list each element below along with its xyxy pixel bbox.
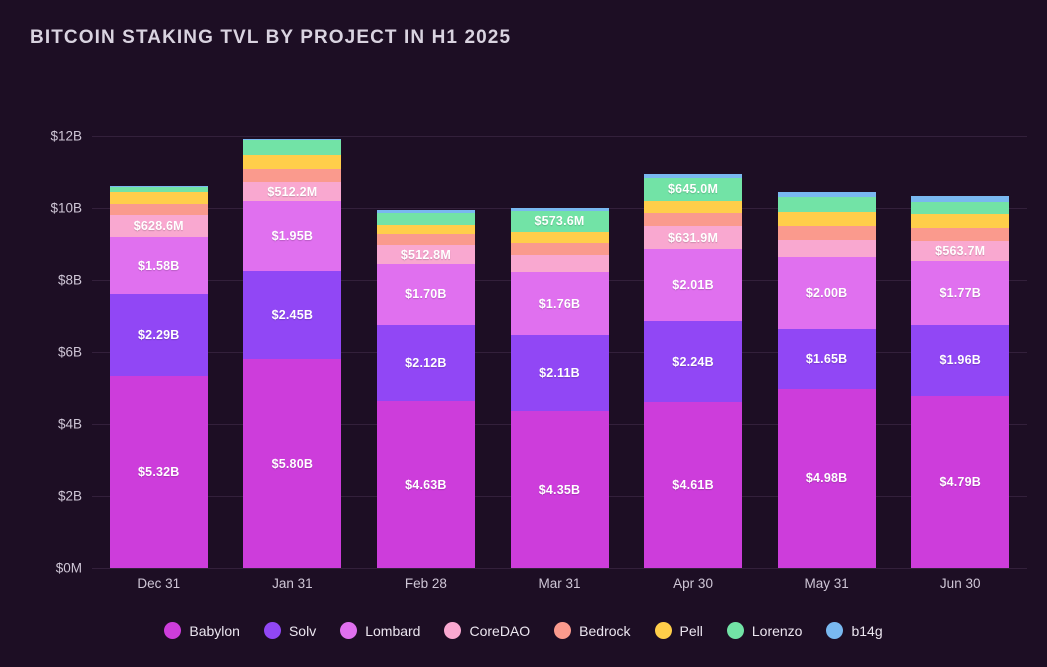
- bar-segment-value-label: $4.79B: [939, 475, 981, 489]
- bar-segment-solv[interactable]: $2.24B: [644, 321, 742, 402]
- bar-segment-pell[interactable]: [778, 212, 876, 226]
- bar-segment-babylon[interactable]: $4.61B: [644, 402, 742, 568]
- x-axis-tick-label: Apr 30: [673, 576, 713, 591]
- bar-stack[interactable]: $5.32B$2.29B$1.58B$628.6M: [110, 186, 208, 568]
- legend-swatch-icon: [444, 622, 461, 639]
- bar-segment-b14g[interactable]: [778, 192, 876, 198]
- bar-segment-bedrock[interactable]: [511, 243, 609, 255]
- bar-segment-value-label: $2.00B: [806, 286, 848, 300]
- bar-segment-bedrock[interactable]: [377, 234, 475, 245]
- x-axis-tick-label: Jan 31: [272, 576, 313, 591]
- bar-segment-lorenzo[interactable]: $573.6M: [511, 211, 609, 232]
- gridline: [92, 136, 1027, 137]
- bar-segment-lorenzo[interactable]: [778, 197, 876, 212]
- x-axis-tick-label: Feb 28: [405, 576, 447, 591]
- bar-segment-value-label: $1.77B: [939, 286, 981, 300]
- legend-swatch-icon: [554, 622, 571, 639]
- legend-item-lombard[interactable]: Lombard: [340, 622, 420, 639]
- chart-container: BITCOIN STAKING TVL BY PROJECT IN H1 202…: [0, 0, 1047, 667]
- bar-segment-value-label: $4.63B: [405, 478, 447, 492]
- bar-segment-lombard[interactable]: $1.58B: [110, 237, 208, 294]
- bar-segment-coredao[interactable]: $512.8M: [377, 245, 475, 263]
- bar-segment-lombard[interactable]: $1.70B: [377, 264, 475, 325]
- bar-segment-babylon[interactable]: $4.63B: [377, 401, 475, 568]
- x-axis-tick-label: May 31: [805, 576, 849, 591]
- legend-label: Babylon: [189, 623, 240, 639]
- bar-segment-babylon[interactable]: $4.98B: [778, 389, 876, 568]
- legend-item-b14g[interactable]: b14g: [826, 622, 882, 639]
- legend-item-solv[interactable]: Solv: [264, 622, 316, 639]
- bar-segment-value-label: $628.6M: [134, 219, 184, 233]
- bar-segment-lorenzo[interactable]: [243, 140, 341, 155]
- legend-label: Solv: [289, 623, 316, 639]
- bar-segment-solv[interactable]: $2.29B: [110, 294, 208, 376]
- bar-segment-value-label: $1.58B: [138, 259, 180, 273]
- bar-segment-lombard[interactable]: $1.76B: [511, 272, 609, 335]
- bar-segment-lorenzo[interactable]: [110, 187, 208, 192]
- bar-segment-value-label: $5.80B: [272, 457, 314, 471]
- bar-stack[interactable]: $4.79B$1.96B$1.77B$563.7M: [911, 196, 1009, 568]
- bar-segment-bedrock[interactable]: [778, 226, 876, 240]
- bar-segment-pell[interactable]: [511, 232, 609, 244]
- legend-label: Pell: [680, 623, 703, 639]
- bar-segment-b14g[interactable]: [511, 208, 609, 211]
- bar-segment-pell[interactable]: [110, 192, 208, 204]
- bar-stack[interactable]: $5.80B$2.45B$1.95B$512.2M: [243, 139, 341, 568]
- x-axis-tick-label: Jun 30: [940, 576, 981, 591]
- legend-swatch-icon: [826, 622, 843, 639]
- y-axis-tick-label: $8B: [58, 273, 82, 288]
- bar-segment-coredao[interactable]: $563.7M: [911, 241, 1009, 261]
- bar-segment-value-label: $2.45B: [272, 308, 314, 322]
- bar-stack[interactable]: $4.63B$2.12B$1.70B$512.8M: [377, 210, 475, 568]
- chart-legend: BabylonSolvLombardCoreDAOBedrockPellLore…: [0, 622, 1047, 639]
- bar-segment-b14g[interactable]: [911, 196, 1009, 202]
- legend-item-pell[interactable]: Pell: [655, 622, 703, 639]
- bar-segment-value-label: $1.76B: [539, 297, 581, 311]
- bar-segment-value-label: $645.0M: [668, 182, 718, 196]
- bar-segment-b14g[interactable]: [110, 186, 208, 187]
- y-axis-tick-label: $0M: [56, 561, 82, 576]
- bar-segment-lombard[interactable]: $2.01B: [644, 249, 742, 321]
- bar-segment-pell[interactable]: [243, 155, 341, 169]
- chart-title: BITCOIN STAKING TVL BY PROJECT IN H1 202…: [30, 27, 511, 49]
- bar-stack[interactable]: $4.61B$2.24B$2.01B$631.9M$645.0M: [644, 174, 742, 568]
- bar-segment-solv[interactable]: $2.45B: [243, 271, 341, 359]
- legend-label: Bedrock: [579, 623, 630, 639]
- legend-label: Lombard: [365, 623, 420, 639]
- bar-segment-babylon[interactable]: $5.32B: [110, 376, 208, 568]
- y-axis-tick-label: $6B: [58, 345, 82, 360]
- bar-segment-solv[interactable]: $2.12B: [377, 325, 475, 401]
- x-axis: Dec 31Jan 31Feb 28Mar 31Apr 30May 31Jun …: [92, 576, 1027, 602]
- bar-segment-value-label: $1.70B: [405, 287, 447, 301]
- bar-segment-value-label: $4.61B: [672, 478, 714, 492]
- legend-item-bedrock[interactable]: Bedrock: [554, 622, 630, 639]
- bar-segment-value-label: $5.32B: [138, 465, 180, 479]
- legend-item-babylon[interactable]: Babylon: [164, 622, 240, 639]
- bar-segment-solv[interactable]: $1.65B: [778, 329, 876, 388]
- bar-segment-value-label: $2.01B: [672, 278, 714, 292]
- bar-segment-coredao[interactable]: [778, 240, 876, 257]
- bar-segment-value-label: $1.95B: [272, 229, 314, 243]
- legend-label: Lorenzo: [752, 623, 803, 639]
- bar-segment-lorenzo[interactable]: [911, 202, 1009, 214]
- bar-segment-value-label: $512.8M: [401, 248, 451, 262]
- bar-segment-pell[interactable]: [644, 201, 742, 213]
- bar-segment-pell[interactable]: [377, 225, 475, 234]
- bar-segment-value-label: $4.98B: [806, 471, 848, 485]
- bar-stack[interactable]: $4.98B$1.65B$2.00B: [778, 192, 876, 568]
- legend-label: b14g: [851, 623, 882, 639]
- bar-segment-b14g[interactable]: [644, 174, 742, 177]
- bar-segment-solv[interactable]: $2.11B: [511, 335, 609, 411]
- bar-segment-b14g[interactable]: [377, 210, 475, 213]
- bar-segment-coredao[interactable]: $512.2M: [243, 182, 341, 200]
- bar-segment-babylon[interactable]: $5.80B: [243, 359, 341, 568]
- legend-item-coredao[interactable]: CoreDAO: [444, 622, 530, 639]
- bar-segment-lombard[interactable]: $1.95B: [243, 201, 341, 271]
- bar-segment-bedrock[interactable]: [644, 213, 742, 226]
- bar-segment-value-label: $573.6M: [534, 214, 584, 228]
- legend-swatch-icon: [164, 622, 181, 639]
- bar-segment-value-label: $563.7M: [935, 244, 985, 258]
- bar-segment-value-label: $4.35B: [539, 483, 581, 497]
- y-axis-tick-label: $10B: [50, 201, 82, 216]
- bar-segment-value-label: $1.65B: [806, 352, 848, 366]
- bar-segment-value-label: $631.9M: [668, 231, 718, 245]
- y-axis-tick-label: $4B: [58, 417, 82, 432]
- bar-segment-lombard[interactable]: $1.77B: [911, 261, 1009, 325]
- legend-swatch-icon: [340, 622, 357, 639]
- legend-swatch-icon: [727, 622, 744, 639]
- bar-segment-coredao[interactable]: $631.9M: [644, 226, 742, 249]
- bar-segment-value-label: $1.96B: [939, 353, 981, 367]
- bar-segment-pell[interactable]: [911, 214, 1009, 227]
- bar-segment-solv[interactable]: $1.96B: [911, 325, 1009, 396]
- bar-segment-babylon[interactable]: $4.79B: [911, 396, 1009, 568]
- bar-segment-bedrock[interactable]: [243, 169, 341, 182]
- bar-segment-lorenzo[interactable]: [377, 213, 475, 225]
- bar-segment-value-label: $2.29B: [138, 328, 180, 342]
- bar-segment-value-label: $2.12B: [405, 356, 447, 370]
- bar-segment-lorenzo[interactable]: $645.0M: [644, 178, 742, 201]
- plot-area: $5.32B$2.29B$1.58B$628.6M$5.80B$2.45B$1.…: [92, 136, 1027, 568]
- x-axis-tick-label: Mar 31: [538, 576, 580, 591]
- legend-label: CoreDAO: [469, 623, 530, 639]
- bar-segment-lombard[interactable]: $2.00B: [778, 257, 876, 329]
- bar-segment-coredao[interactable]: [511, 255, 609, 272]
- y-axis-tick-label: $12B: [50, 129, 82, 144]
- bar-segment-b14g[interactable]: [243, 139, 341, 140]
- bar-segment-value-label: $2.11B: [539, 366, 580, 380]
- bar-stack[interactable]: $4.35B$2.11B$1.76B$573.6M: [511, 208, 609, 568]
- bar-segment-bedrock[interactable]: [911, 228, 1009, 241]
- bar-segment-coredao[interactable]: $628.6M: [110, 215, 208, 238]
- legend-swatch-icon: [655, 622, 672, 639]
- bar-segment-babylon[interactable]: $4.35B: [511, 411, 609, 568]
- legend-swatch-icon: [264, 622, 281, 639]
- y-axis: $0M$2B$4B$6B$8B$10B$12B: [20, 136, 82, 568]
- y-axis-tick-label: $2B: [58, 489, 82, 504]
- gridline: [92, 568, 1027, 569]
- bar-segment-value-label: $512.2M: [267, 185, 317, 199]
- legend-item-lorenzo[interactable]: Lorenzo: [727, 622, 803, 639]
- bar-segment-bedrock[interactable]: [110, 204, 208, 215]
- bar-segment-value-label: $2.24B: [672, 355, 714, 369]
- x-axis-tick-label: Dec 31: [137, 576, 180, 591]
